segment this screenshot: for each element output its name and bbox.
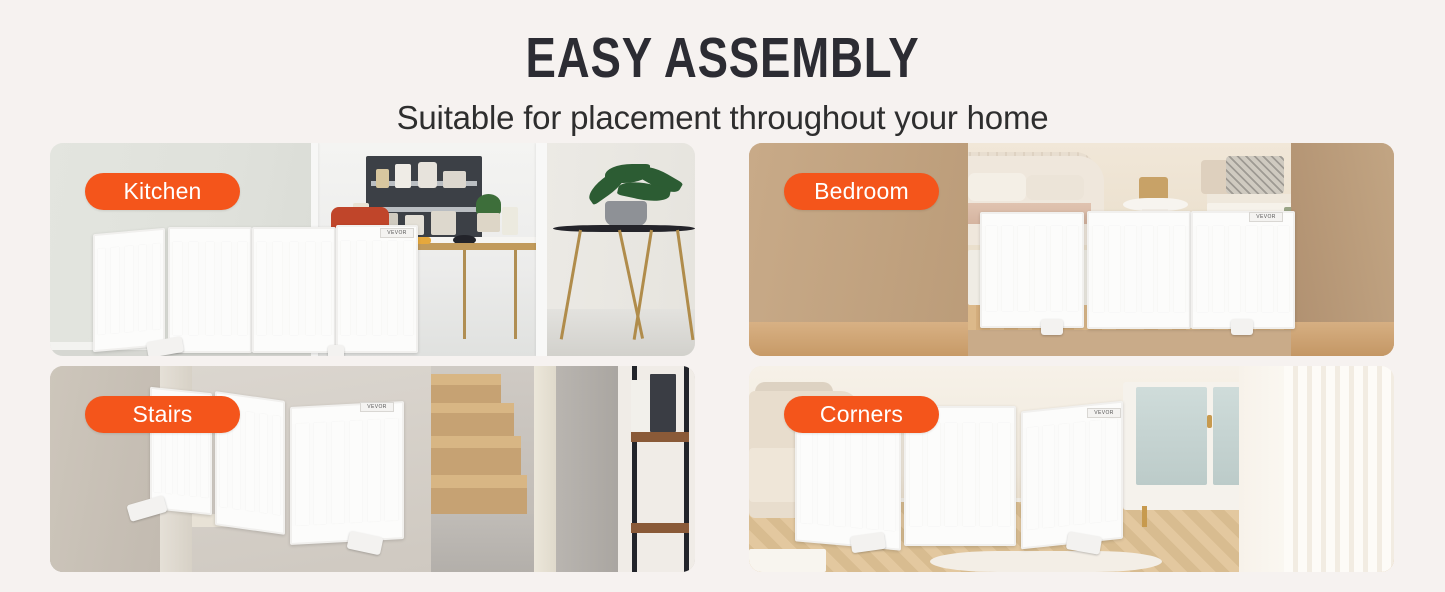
page-subtitle: Suitable for placement throughout your h… <box>0 100 1445 136</box>
kitchen-side-table-top <box>553 225 695 232</box>
stairs-shelf-post <box>684 366 689 572</box>
gate-panel[interactable] <box>336 225 418 353</box>
badge-corners[interactable]: Corners <box>784 396 939 433</box>
gate-panel[interactable] <box>980 212 1084 328</box>
gate-panel[interactable] <box>168 227 252 353</box>
gate-support-foot <box>1041 319 1063 335</box>
corners-rug <box>930 551 1162 572</box>
kitchen-jar <box>418 162 437 188</box>
corners-open-book <box>749 549 826 572</box>
kitchen-bottle <box>502 207 519 235</box>
bedroom-right-floor <box>1291 322 1394 356</box>
panel-stairs[interactable]: VEVOR Stairs <box>50 366 695 572</box>
gate-support-foot <box>1231 319 1253 335</box>
corners-cabinet-door <box>1136 387 1207 486</box>
gate-brand-label: VEVOR <box>1087 408 1121 418</box>
gate-brand-label: VEVOR <box>360 402 394 412</box>
gate-panel[interactable] <box>1087 211 1191 329</box>
bedroom-pillow <box>968 173 1026 201</box>
marketing-image: EASY ASSEMBLY Suitable for placement thr… <box>0 0 1445 592</box>
badge-bedroom[interactable]: Bedroom <box>784 173 939 210</box>
bedroom-lamp <box>1139 177 1168 200</box>
corners-curtain-inner <box>1239 366 1291 572</box>
badge-kitchen[interactable]: Kitchen <box>85 173 240 210</box>
panel-corners[interactable]: VEVOR Corners <box>749 366 1394 572</box>
stairs-right-wall <box>556 366 621 572</box>
panel-bedroom[interactable]: VEVOR Bedroom <box>749 143 1394 356</box>
panel-kitchen[interactable]: VEVOR Kitchen <box>50 143 695 356</box>
gate-brand-label: VEVOR <box>1249 212 1283 222</box>
stairs-book <box>650 374 676 432</box>
kitchen-table-leg <box>463 250 466 339</box>
bedroom-left-floor <box>749 322 968 356</box>
bedroom-patterned-pillow <box>1226 156 1284 194</box>
gate-panel[interactable] <box>93 228 165 352</box>
placement-panel-grid: VEVOR Kitchen <box>50 143 1394 572</box>
page-title: EASY ASSEMBLY <box>145 30 1301 87</box>
gate-panel[interactable] <box>252 227 336 353</box>
kitchen-jar <box>395 164 410 187</box>
header: EASY ASSEMBLY Suitable for placement thr… <box>0 0 1445 136</box>
gate-brand-label: VEVOR <box>380 228 414 238</box>
corners-cabinet-handle-icon <box>1207 415 1212 427</box>
kitchen-planter <box>477 213 500 232</box>
kitchen-table-leg <box>514 250 517 339</box>
kitchen-jar <box>443 171 466 188</box>
gate-panel[interactable] <box>1021 401 1123 550</box>
kitchen-jar <box>431 211 457 234</box>
gate-panel[interactable] <box>290 401 404 545</box>
stairs-shelf-board <box>631 432 689 442</box>
gate-panel[interactable] <box>1191 211 1295 329</box>
kitchen-door-jamb-right <box>536 143 546 356</box>
gate-support-foot <box>328 345 344 356</box>
bedroom-pillow <box>1026 175 1084 201</box>
stairs-book <box>631 380 650 432</box>
badge-stairs[interactable]: Stairs <box>85 396 240 433</box>
kitchen-small-plant <box>476 194 502 215</box>
kitchen-jar <box>376 169 389 188</box>
stairs-shelf-board <box>631 523 689 533</box>
kitchen-plant-pot <box>605 201 647 227</box>
corners-cabinet-leg <box>1142 506 1147 527</box>
corners-sheer-curtain <box>1284 366 1394 572</box>
